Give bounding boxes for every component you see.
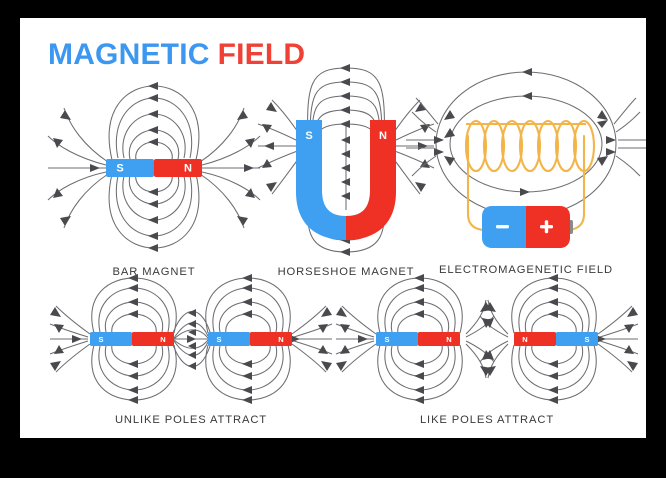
magnet-right-label-north: N [522, 335, 527, 344]
field-arrowheads-group [434, 68, 616, 220]
title-word-magnetic: MAGNETIC [48, 38, 210, 71]
magnet-left-pole-south [90, 332, 132, 346]
magnet-left-pole-north [418, 332, 460, 346]
panel-caption-electromagnetic-field: ELECTROMAGENETIC FIELD [420, 264, 632, 276]
pole-label-north: N [379, 130, 387, 142]
image-frame: MAGNETICFIELD [0, 0, 666, 478]
magnet-left[interactable]: S N [376, 332, 460, 346]
pole-label-north: N [184, 163, 192, 175]
panel-caption-unlike-poles: UNLIKE POLES ATTRACT [50, 414, 332, 426]
magnet-left[interactable]: S N [90, 332, 174, 346]
panel-bar-magnet[interactable]: S N BAR MAGNET [48, 80, 260, 280]
magnet-left-label-south: S [384, 335, 389, 344]
magnet-pole-south [106, 159, 154, 177]
electromagnetic-field-diagram [420, 54, 632, 258]
bar-magnet-diagram: S N [48, 80, 260, 258]
battery-plus-sign-v [545, 220, 548, 233]
magnet-right[interactable]: N S [514, 332, 598, 346]
panel-caption-like-poles: LIKE POLES ATTRACT [342, 414, 632, 426]
battery-minus-sign [496, 225, 509, 228]
magnet-left-label-south: S [98, 335, 103, 344]
magnet-right[interactable]: S N [208, 332, 292, 346]
panel-unlike-poles[interactable]: S N S N UNLIKE POLES ATTRACT [50, 276, 332, 426]
panel-horseshoe-magnet[interactable]: S N HORSESHOE MAGNET [258, 58, 434, 280]
magnet-left-label-north: N [446, 335, 451, 344]
magnet-right-pole-north [250, 332, 292, 346]
magnet-arm-south [296, 120, 346, 240]
magnet-right-label-south: S [584, 335, 589, 344]
magnet-right-label-north: N [278, 335, 283, 344]
magnet-right-label-south: S [216, 335, 221, 344]
magnet-right-pole-south [208, 332, 250, 346]
magnet-right-pole-north [514, 332, 556, 346]
magnet-arm-north [346, 120, 396, 240]
field-lines-group [406, 72, 646, 216]
like-poles-diagram: S N N S [342, 276, 632, 402]
bar-magnet-body[interactable]: S N [106, 159, 202, 177]
battery[interactable] [482, 206, 573, 248]
infographic-canvas: MAGNETICFIELD [20, 18, 646, 438]
magnet-left-pole-north [132, 332, 174, 346]
magnet-pole-north [154, 159, 202, 177]
magnet-left-label-north: N [160, 335, 165, 344]
horseshoe-magnet-diagram: S N [258, 58, 434, 260]
magnet-right-pole-south [556, 332, 598, 346]
magnet-left-pole-south [376, 332, 418, 346]
panel-like-poles[interactable]: S N N S LIKE POLES ATTRACT [342, 276, 632, 426]
panel-electromagnetic-field[interactable]: ELECTROMAGENETIC FIELD [420, 54, 632, 280]
pole-label-south: S [305, 130, 312, 142]
pole-label-south: S [116, 163, 123, 175]
unlike-poles-diagram: S N S N [50, 276, 332, 402]
